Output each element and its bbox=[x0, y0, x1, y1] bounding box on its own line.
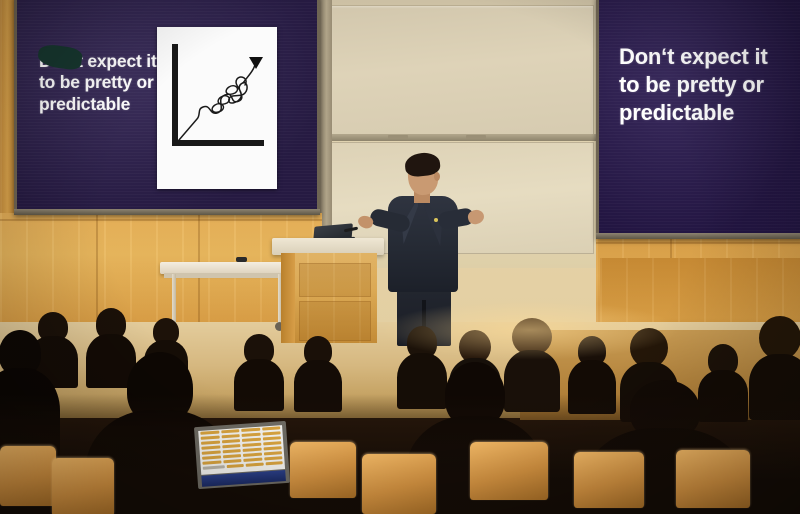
audience-laptop-lid bbox=[194, 421, 290, 489]
audience-laptop bbox=[194, 421, 290, 489]
auditorium-chair bbox=[470, 442, 548, 500]
auditorium-chair bbox=[676, 450, 750, 508]
lecture-hall-photo: Don‘t expect it to be pretty or predicta… bbox=[0, 0, 800, 514]
auditorium-chair bbox=[52, 458, 114, 514]
right-screen-surface: Don‘t expect it to be pretty or predicta… bbox=[599, 0, 800, 234]
left-screen-bottom-rail bbox=[14, 209, 320, 215]
right-screen-bottom-rail bbox=[596, 233, 800, 239]
whiteboard-clip bbox=[388, 135, 408, 139]
audience-laptop-screen bbox=[198, 425, 285, 475]
upper-whiteboard bbox=[330, 5, 594, 139]
left-screen-surface: Don‘t expect it to be pretty or predicta… bbox=[17, 0, 317, 210]
right-slide-headline: Don‘t expect it to be pretty or predicta… bbox=[619, 43, 768, 127]
hand-drawn-chart bbox=[157, 27, 277, 189]
presenter-ear bbox=[434, 172, 440, 181]
seated-audience bbox=[0, 300, 800, 514]
presentation-remote bbox=[236, 257, 247, 262]
table-apron bbox=[164, 273, 288, 278]
whiteboard-clip bbox=[466, 135, 486, 139]
whiteboard-chalk-rail bbox=[326, 134, 596, 141]
right-projection-screen: Don‘t expect it to be pretty or predicta… bbox=[596, 0, 800, 239]
auditorium-chair bbox=[574, 452, 644, 508]
auditorium-chair bbox=[362, 454, 436, 514]
auditorium-chair bbox=[290, 442, 356, 498]
left-projection-screen: Don‘t expect it to be pretty or predicta… bbox=[14, 0, 320, 215]
auditorium-chair bbox=[0, 446, 56, 506]
